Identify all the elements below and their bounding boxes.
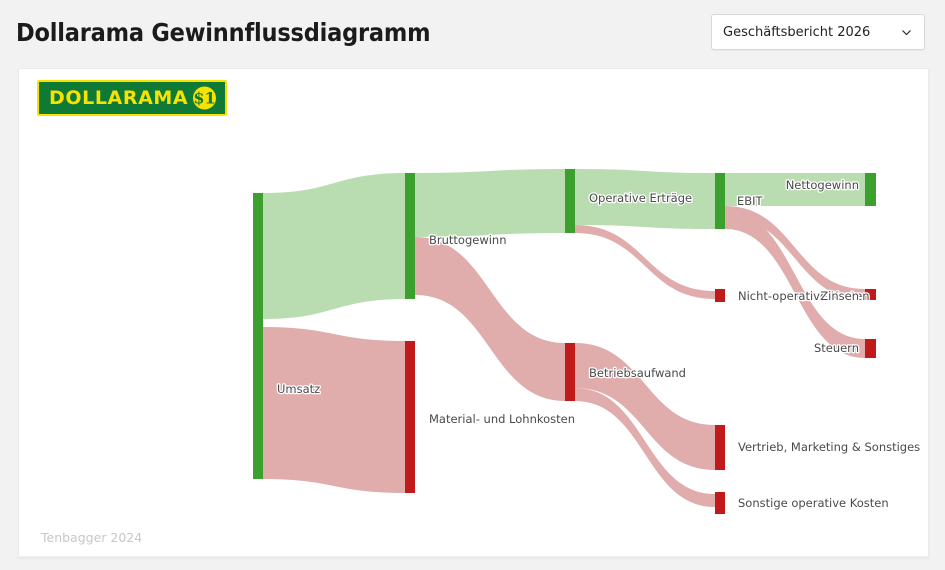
sankey-label-opertraege: Operative Erträge bbox=[589, 191, 692, 205]
sankey-label-matlohn: Material- und Lohnkosten bbox=[429, 412, 575, 426]
sankey-app: Dollarama Gewinnflussdiagramm Geschäftsb… bbox=[0, 0, 945, 570]
sankey-link-umsatz-to-matlohn[interactable] bbox=[263, 327, 405, 493]
sankey-links bbox=[263, 169, 865, 507]
report-year-value: Geschäftsbericht 2026 bbox=[712, 25, 901, 40]
sankey-label-steuern: Steuern bbox=[814, 341, 859, 355]
sankey-link-opertraege-to-nichtopkosten[interactable] bbox=[575, 225, 715, 299]
sankey-label-betriebsaufw: Betriebsaufwand bbox=[589, 366, 686, 380]
chart-card: DOLLARAMA $1 UmsatzBruttogewinnMaterial-… bbox=[18, 68, 929, 558]
sankey-link-umsatz-to-bruttogewinn[interactable] bbox=[263, 173, 405, 319]
sankey-link-bruttogewinn-to-opertraege[interactable] bbox=[415, 169, 565, 237]
sankey-label-sonstigeop: Sonstige operative Kosten bbox=[738, 496, 889, 510]
sankey-link-ebit-to-steuern[interactable] bbox=[725, 210, 865, 358]
sankey-label-bruttogewinn: Bruttogewinn bbox=[429, 233, 507, 247]
chevron-down-icon bbox=[901, 27, 912, 38]
sankey-node-matlohn[interactable] bbox=[405, 341, 415, 493]
sankey-label-vertrieb: Vertrieb, Marketing & Sonstiges bbox=[738, 440, 920, 454]
sankey-node-opertraege[interactable] bbox=[565, 169, 575, 233]
sankey-node-sonstigeop[interactable] bbox=[715, 492, 725, 514]
card-divider bbox=[19, 556, 928, 557]
sankey-node-nettogewinn[interactable] bbox=[865, 173, 876, 206]
sankey-node-vertrieb[interactable] bbox=[715, 425, 725, 470]
sankey-link-bruttogewinn-to-betriebsaufw[interactable] bbox=[415, 237, 565, 401]
sankey-label-ebit: EBIT bbox=[737, 194, 764, 208]
sankey-node-ebit[interactable] bbox=[715, 173, 725, 229]
sankey-node-bruttogewinn[interactable] bbox=[405, 173, 415, 299]
report-year-select[interactable]: Geschäftsbericht 2026 bbox=[711, 14, 925, 50]
sankey-diagram: UmsatzBruttogewinnMaterial- und Lohnkost… bbox=[19, 69, 928, 557]
sankey-label-umsatz: Umsatz bbox=[277, 382, 320, 396]
sankey-node-nichtopkosten[interactable] bbox=[715, 289, 725, 302]
sankey-label-zinsen: Zinsen bbox=[820, 289, 859, 303]
sankey-node-steuern[interactable] bbox=[865, 339, 876, 358]
sankey-node-umsatz[interactable] bbox=[253, 193, 263, 479]
sankey-node-betriebsaufw[interactable] bbox=[565, 343, 575, 401]
sankey-label-nettogewinn: Nettogewinn bbox=[786, 178, 859, 192]
footer-credit: Tenbagger 2024 bbox=[41, 530, 142, 545]
page-title: Dollarama Gewinnflussdiagramm bbox=[16, 18, 430, 47]
page-header: Dollarama Gewinnflussdiagramm Geschäftsb… bbox=[0, 0, 945, 64]
